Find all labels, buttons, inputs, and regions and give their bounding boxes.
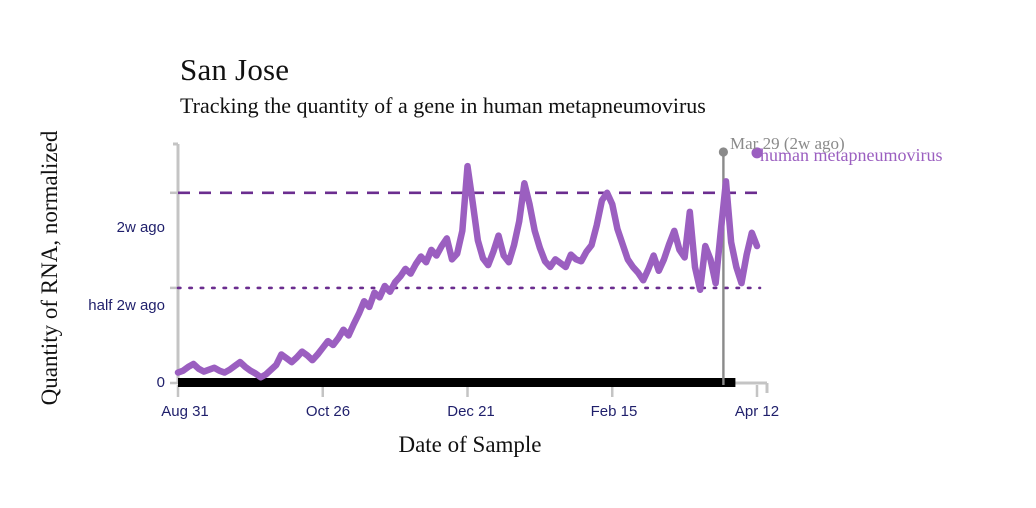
- x-tick-label-oct-26: Oct 26: [283, 403, 373, 420]
- x-tick-label-dec-21: Dec 21: [426, 403, 516, 420]
- y-axis-title: Quantity of RNA, normalized: [37, 108, 63, 428]
- data-series-line: [178, 166, 757, 377]
- y-tick-label-half-2w-ago: half 2w ago: [40, 297, 165, 314]
- chart-container: San Jose Tracking the quantity of a gene…: [0, 0, 1036, 508]
- x-tick-label-feb-15: Feb 15: [569, 403, 659, 420]
- y-tick-label-2w-ago: 2w ago: [60, 219, 165, 236]
- page-title: San Jose: [180, 52, 289, 88]
- y-tick-label-zero: 0: [120, 374, 165, 391]
- series-label-human-metapneumovirus: human metapneumovirus: [760, 145, 942, 166]
- x-tick-label-aug-31: Aug 31: [140, 403, 230, 420]
- marker-dot-icon: [719, 147, 728, 156]
- x-tick-label-apr-12: Apr 12: [712, 403, 802, 420]
- chart-subtitle: Tracking the quantity of a gene in human…: [180, 93, 706, 119]
- x-axis-title: Date of Sample: [180, 432, 760, 458]
